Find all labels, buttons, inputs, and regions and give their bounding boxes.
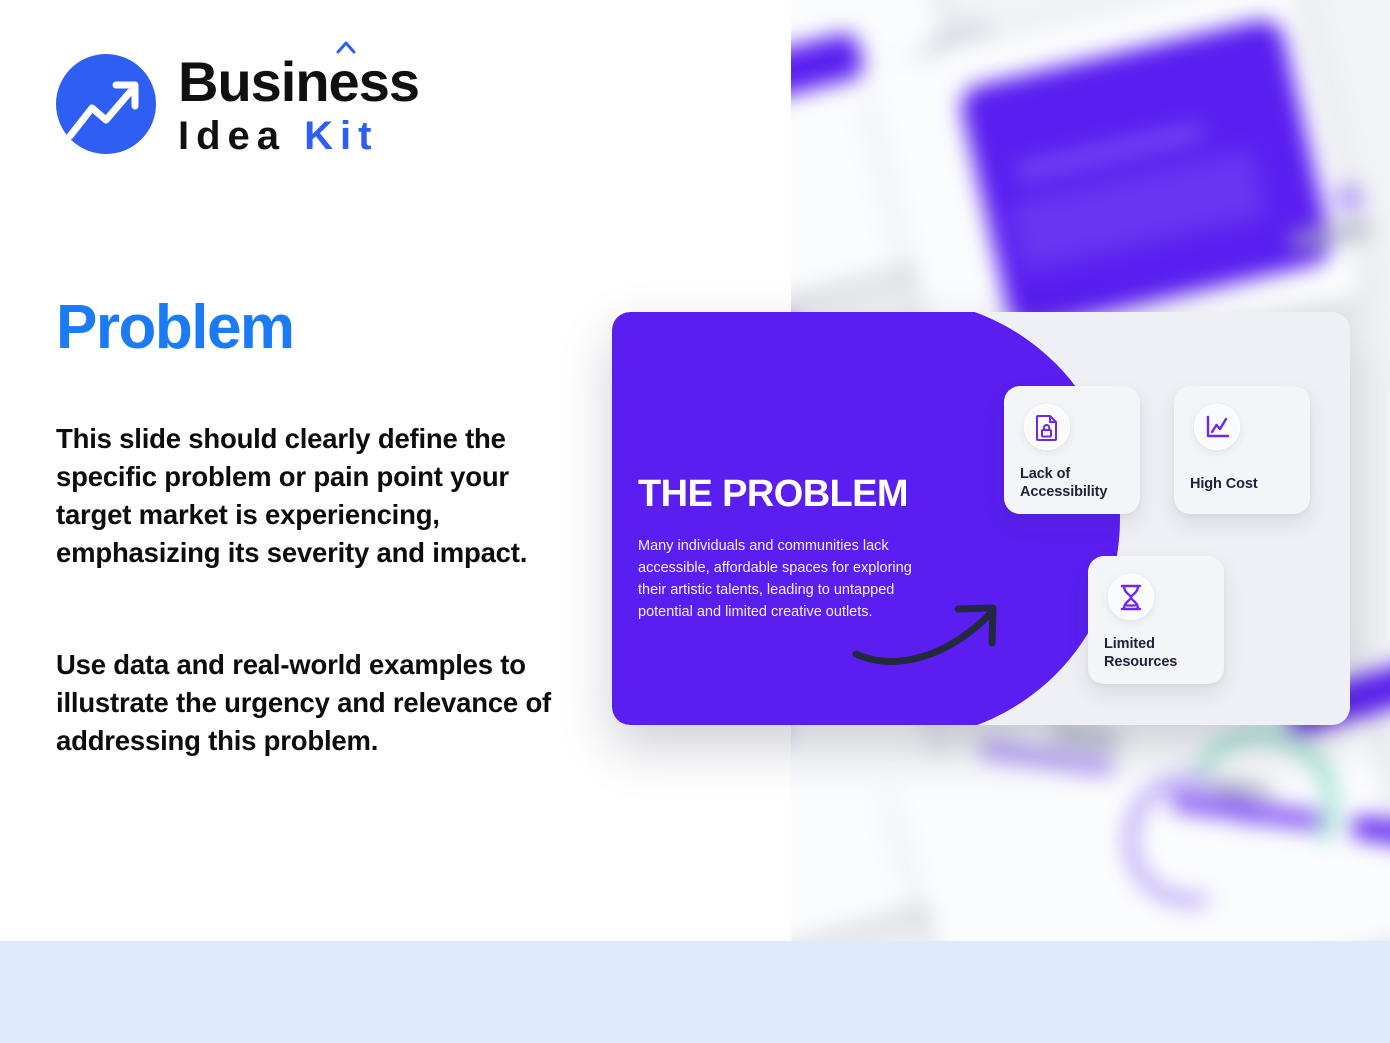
bg-purple-bar <box>791 31 866 136</box>
brand-name-idea: Idea <box>178 114 304 158</box>
feature-card-high-cost[interactable]: High Cost <box>1174 386 1310 514</box>
bottom-accent-bar <box>0 941 1390 1043</box>
brand-wordmark: Business Idea Kit <box>178 52 419 156</box>
hourglass-icon <box>1108 574 1154 620</box>
brand-name-kit: Kit <box>304 114 378 158</box>
description-paragraph-1: This slide should clearly define the spe… <box>56 420 566 572</box>
feature-label: Lack of Accessibility <box>1020 466 1124 501</box>
feature-card-limited-resources[interactable]: Limited Resources <box>1088 556 1224 684</box>
brand-name-line2: Idea Kit <box>178 116 419 156</box>
growth-arrow-circle-icon <box>56 54 156 154</box>
line-chart-icon <box>1194 404 1240 450</box>
brand-name-line1-text: Business <box>178 50 419 113</box>
document-lock-icon <box>1024 404 1070 450</box>
circumflex-accent-icon <box>336 40 356 54</box>
slide-heading: THE PROBLEM <box>638 475 908 513</box>
brand-name-line1: Business <box>178 54 419 110</box>
feature-label: High Cost <box>1190 476 1294 494</box>
curved-arrow-up-right-icon <box>850 592 1030 672</box>
page-title: Problem <box>56 295 294 360</box>
problem-slide-card[interactable]: THE PROBLEM Many individuals and communi… <box>612 312 1350 725</box>
feature-label: Limited Resources <box>1104 636 1208 671</box>
feature-card-lack-of-accessibility[interactable]: Lack of Accessibility <box>1004 386 1140 514</box>
brand-logo[interactable]: Business Idea Kit <box>56 52 419 156</box>
slide-preview-page: Business Idea Kit Problem This slide sho… <box>0 0 1390 1043</box>
bg-dot-right <box>1336 185 1362 211</box>
description-paragraph-2: Use data and real-world examples to illu… <box>56 646 566 760</box>
